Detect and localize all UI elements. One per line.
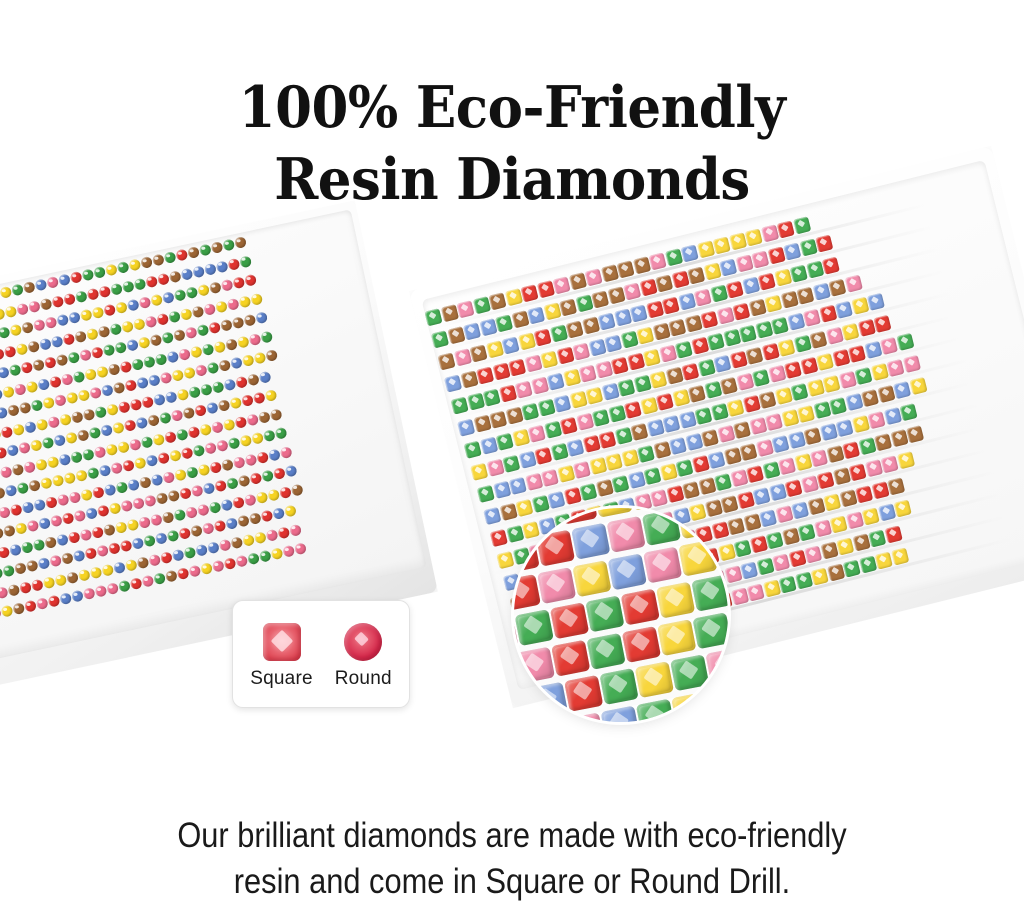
drill-bead <box>33 498 46 511</box>
drill-bead <box>183 546 196 559</box>
drill-bead <box>250 292 263 305</box>
drill-bead <box>63 472 76 485</box>
drill-bead <box>272 507 285 520</box>
drill-bead <box>143 355 156 368</box>
legend-label-round: Round <box>335 668 392 690</box>
drill-bead <box>121 499 134 512</box>
drill-bead <box>145 275 158 288</box>
drill-bead <box>269 408 282 421</box>
drill-bead <box>222 238 235 251</box>
drill-bead <box>114 521 127 534</box>
drill-bead <box>207 361 220 374</box>
drill-bead <box>126 339 139 352</box>
drill-bead <box>124 379 137 392</box>
drill-bead <box>235 375 248 388</box>
closeup-bead <box>571 523 610 560</box>
drill-bead <box>3 524 16 537</box>
drill-bead <box>84 547 97 560</box>
drill-bead <box>232 496 245 509</box>
drill-bead <box>242 354 255 367</box>
drill-bead <box>29 439 42 452</box>
drill-bead <box>74 330 87 343</box>
drill-bead <box>48 595 61 608</box>
drill-bead <box>204 262 217 275</box>
drill-bead <box>188 385 201 398</box>
drill-bead <box>57 493 70 506</box>
drill-bead <box>114 341 127 354</box>
drill-bead <box>135 416 148 429</box>
drill-bead <box>165 390 178 403</box>
closeup-bead <box>671 692 710 722</box>
drill-bead <box>55 533 68 546</box>
drill-bead <box>214 300 227 313</box>
drill-bead <box>106 403 119 416</box>
drill-bead <box>50 335 63 348</box>
drill-bead <box>105 443 118 456</box>
drill-bead <box>153 393 166 406</box>
drill-bead <box>250 472 263 485</box>
drill-bead <box>93 445 106 458</box>
drill-bead <box>209 460 222 473</box>
drill-bead <box>118 580 131 593</box>
drill-bead <box>175 428 188 441</box>
drill-bead <box>203 302 216 315</box>
drill-bead <box>152 433 165 446</box>
drill-bead <box>221 458 234 471</box>
drill-bead <box>147 414 160 427</box>
drill-bead <box>110 462 123 475</box>
drill-bead <box>213 519 226 532</box>
drill-bead <box>7 583 20 596</box>
drill-bead <box>191 484 204 497</box>
drill-bead <box>19 581 32 594</box>
closeup-bead <box>705 647 728 684</box>
drill-bead <box>254 531 267 544</box>
drill-bead <box>41 436 54 449</box>
drill-bead <box>65 431 78 444</box>
drill-bead <box>217 399 230 412</box>
drill-bead <box>54 394 67 407</box>
drill-bead <box>92 306 105 319</box>
drill-bead <box>46 455 59 468</box>
closeup-bead <box>586 633 625 670</box>
drill-bead <box>171 369 184 382</box>
drill-bead <box>95 585 108 598</box>
closeup-bead <box>707 685 728 722</box>
drill-bead <box>97 504 110 517</box>
drill-bead <box>85 507 98 520</box>
drill-bead <box>198 463 211 476</box>
drill-bead <box>97 325 110 338</box>
drill-bead <box>196 324 209 337</box>
drill-bead <box>70 271 83 284</box>
drill-type-legend: Square Round <box>232 600 410 708</box>
drill-bead <box>134 457 147 470</box>
drill-bead <box>1 425 14 438</box>
drill-bead <box>195 364 208 377</box>
drill-bead <box>87 287 100 300</box>
drill-bead <box>81 268 94 281</box>
closeup-bead <box>642 509 681 546</box>
drill-bead <box>140 435 153 448</box>
drill-bead <box>179 307 192 320</box>
drill-bead <box>166 529 179 542</box>
drill-bead <box>186 465 199 478</box>
drill-bead <box>256 451 269 464</box>
drill-bead <box>199 423 212 436</box>
drill-bead <box>127 299 140 312</box>
drill-bead <box>49 375 62 388</box>
drill-bead <box>255 311 268 324</box>
drill-bead <box>203 482 216 495</box>
drill-bead <box>78 568 91 581</box>
drill-bead <box>277 526 290 539</box>
drill-bead <box>142 575 155 588</box>
drill-bead <box>5 484 18 497</box>
drill-bead <box>154 353 167 366</box>
drill-bead <box>275 427 288 440</box>
drill-bead <box>136 376 149 389</box>
drill-bead <box>218 359 231 372</box>
drill-bead <box>34 278 47 291</box>
closeup-bead <box>529 682 568 719</box>
drill-bead <box>162 470 175 483</box>
drill-bead <box>166 350 179 363</box>
closeup-bead <box>678 540 717 577</box>
drill-bead <box>197 284 210 297</box>
drill-bead <box>199 243 212 256</box>
drill-bead <box>265 528 278 541</box>
drill-bead <box>139 475 152 488</box>
drill-bead <box>4 305 17 318</box>
drill-bead <box>85 327 98 340</box>
drill-bead <box>238 474 251 487</box>
drill-bead <box>164 251 177 264</box>
drill-bead <box>38 337 51 350</box>
drill-bead <box>216 260 229 273</box>
drill-bead <box>66 571 79 584</box>
drill-bead <box>128 438 141 451</box>
drill-bead <box>243 493 256 506</box>
drill-bead <box>72 370 85 383</box>
drill-bead <box>268 448 281 461</box>
drill-bead <box>261 469 274 482</box>
drill-bead <box>184 326 197 339</box>
drill-bead <box>63 292 76 305</box>
drill-bead <box>181 267 194 280</box>
drill-bead <box>149 334 162 347</box>
drill-bead <box>259 550 272 563</box>
drill-bead <box>25 559 38 572</box>
drill-bead <box>2 385 15 398</box>
drill-bead <box>0 465 12 478</box>
drill-bead <box>118 400 131 413</box>
drill-bead <box>151 294 164 307</box>
drill-bead <box>106 582 119 595</box>
drill-bead <box>32 538 45 551</box>
drill-bead <box>241 394 254 407</box>
drill-bead <box>156 312 169 325</box>
closeup-bead <box>585 595 624 632</box>
drill-bead <box>141 395 154 408</box>
drill-bead <box>222 418 235 431</box>
drill-bead <box>181 447 194 460</box>
drill-bead <box>246 413 259 426</box>
closeup-rows <box>514 508 728 722</box>
drill-bead <box>130 577 143 590</box>
drill-bead <box>1 605 14 618</box>
drill-bead <box>290 483 303 496</box>
drill-bead <box>19 401 32 414</box>
drill-bead <box>27 519 40 532</box>
drill-bead <box>78 389 91 402</box>
drill-bead <box>12 602 25 615</box>
closeup-bead <box>656 582 695 619</box>
drill-bead <box>68 311 81 324</box>
drill-bead <box>80 488 93 501</box>
drill-bead <box>186 286 199 299</box>
drill-bead <box>237 514 250 527</box>
drill-bead <box>38 517 51 530</box>
drill-bead <box>259 370 272 383</box>
drill-bead <box>208 321 221 334</box>
drill-bead <box>57 314 70 327</box>
closeup-bead <box>643 547 682 584</box>
drill-bead <box>88 426 101 439</box>
drill-bead <box>31 399 44 412</box>
drill-bead <box>115 480 128 493</box>
drill-bead <box>278 486 291 499</box>
closeup-bead <box>516 647 555 684</box>
drill-bead <box>136 556 149 569</box>
drill-bead <box>100 424 113 437</box>
drill-bead <box>168 489 181 502</box>
drill-bead <box>117 261 130 274</box>
drill-bead <box>177 388 190 401</box>
drill-bead <box>220 498 233 511</box>
drill-bead <box>71 410 84 423</box>
closeup-bead <box>657 619 696 656</box>
drill-bead <box>46 276 59 289</box>
drill-bead <box>219 538 232 551</box>
drill-bead <box>70 450 83 463</box>
closeup-bead <box>599 668 638 705</box>
legend-item-square[interactable]: Square <box>250 623 312 690</box>
closeup-bead <box>515 609 554 646</box>
drill-bead <box>79 349 92 362</box>
drill-bead <box>40 477 53 490</box>
drill-bead <box>105 263 118 276</box>
drill-bead <box>234 236 247 249</box>
drill-bead <box>285 464 298 477</box>
drill-bead <box>182 407 195 420</box>
drill-bead <box>93 266 106 279</box>
drill-bead <box>20 541 33 554</box>
drill-bead <box>50 514 63 527</box>
drill-bead <box>98 285 111 298</box>
drill-bead <box>91 346 104 359</box>
drill-bead <box>126 518 139 531</box>
drill-bead <box>42 576 55 589</box>
drill-bead <box>244 274 257 287</box>
drill-bead <box>96 365 109 378</box>
drill-bead <box>42 396 55 409</box>
drill-bead <box>131 537 144 550</box>
drill-bead <box>228 437 241 450</box>
drill-bead <box>79 528 92 541</box>
drill-bead <box>123 419 136 432</box>
legend-item-round[interactable]: Round <box>335 623 392 690</box>
closeup-bead <box>621 589 660 626</box>
drill-bead <box>40 297 53 310</box>
drill-bead <box>224 557 237 570</box>
drill-bead <box>221 279 234 292</box>
drill-bead <box>20 361 33 374</box>
drill-bead <box>45 316 58 329</box>
drill-bead <box>16 302 29 315</box>
drill-bead <box>91 526 104 539</box>
drill-bead <box>0 546 10 559</box>
drill-bead <box>205 402 218 415</box>
drill-bead <box>138 516 151 529</box>
drill-bead <box>161 331 174 344</box>
drill-bead <box>173 508 186 521</box>
drill-bead <box>31 578 44 591</box>
drill-bead <box>119 539 132 552</box>
drill-bead <box>254 351 267 364</box>
drill-bead <box>169 270 182 283</box>
drill-bead <box>122 459 135 472</box>
drill-bead <box>25 380 38 393</box>
drill-bead <box>157 272 170 285</box>
drill-bead <box>294 542 307 555</box>
drill-bead <box>192 265 205 278</box>
drill-bead <box>130 398 143 411</box>
drill-bead <box>36 597 49 610</box>
drill-bead <box>52 474 65 487</box>
drill-bead <box>242 533 255 546</box>
drill-bead <box>37 377 50 390</box>
drill-bead <box>83 408 96 421</box>
drill-bead <box>239 434 252 447</box>
drill-bead <box>117 440 130 453</box>
drill-bead <box>212 380 225 393</box>
drill-bead <box>267 488 280 501</box>
drill-bead <box>68 490 81 503</box>
drill-bead <box>187 425 200 438</box>
drill-bead <box>95 405 108 418</box>
drill-bead <box>187 246 200 259</box>
drill-bead <box>53 434 66 447</box>
drill-bead <box>51 295 64 308</box>
drill-bead <box>15 342 28 355</box>
drill-bead <box>24 420 37 433</box>
drill-bead <box>71 590 84 603</box>
drill-bead <box>84 368 97 381</box>
drill-bead <box>179 487 192 500</box>
closeup-bead <box>572 560 611 597</box>
drill-bead <box>211 241 224 254</box>
drill-bead <box>0 586 9 599</box>
drill-bead <box>158 412 171 425</box>
drill-bead <box>0 446 7 459</box>
drill-bead <box>98 464 111 477</box>
drill-bead <box>148 374 161 387</box>
drill-bead <box>6 444 19 457</box>
drill-bead <box>33 319 46 332</box>
drill-bead <box>89 386 102 399</box>
drill-bead <box>162 291 175 304</box>
closeup-bead <box>691 575 728 612</box>
drill-bead <box>160 371 173 384</box>
drill-bead <box>102 344 115 357</box>
drill-bead <box>92 485 105 498</box>
drill-bead <box>14 562 27 575</box>
drill-bead <box>132 497 145 510</box>
drill-bead <box>248 333 261 346</box>
drill-bead <box>194 404 207 417</box>
drill-bead <box>67 351 80 364</box>
drill-bead <box>111 421 124 434</box>
closeup-bead <box>536 530 575 567</box>
drill-bead <box>284 504 297 517</box>
drill-bead <box>174 289 187 302</box>
drill-bead <box>28 479 41 492</box>
drill-bead <box>109 322 122 335</box>
drill-bead <box>83 587 96 600</box>
drill-bead <box>196 503 209 516</box>
drill-bead <box>0 286 12 299</box>
drill-bead <box>12 423 25 436</box>
drill-bead <box>62 332 75 345</box>
drill-bead <box>148 553 161 566</box>
drill-bead <box>22 500 35 513</box>
drill-bead <box>140 256 153 269</box>
drill-bead <box>59 592 72 605</box>
drill-bead <box>108 542 121 555</box>
drill-bead <box>211 420 224 433</box>
drill-bead <box>230 536 243 549</box>
drill-bead <box>102 523 115 536</box>
drill-bead <box>229 397 242 410</box>
drill-bead <box>212 560 225 573</box>
drill-bead <box>201 343 214 356</box>
drill-bead <box>282 545 295 558</box>
drill-bead <box>101 384 114 397</box>
drill-bead <box>96 544 109 557</box>
drill-bead <box>0 366 10 379</box>
drill-bead <box>11 463 24 476</box>
drill-bead <box>226 297 239 310</box>
drill-bead <box>247 552 260 565</box>
drill-bead <box>80 309 93 322</box>
drill-bead <box>138 336 151 349</box>
drill-bead <box>59 413 72 426</box>
page-title-line-1: 100% Eco-Friendly <box>36 77 988 139</box>
drill-bead <box>174 468 187 481</box>
drill-bead <box>62 512 75 525</box>
drill-bead <box>143 534 156 547</box>
drill-bead <box>216 439 229 452</box>
drill-bead <box>161 511 174 524</box>
closeup-bead <box>551 640 590 677</box>
drill-bead <box>139 296 152 309</box>
closeup-bead <box>564 675 603 712</box>
drill-bead <box>58 453 71 466</box>
drill-bead <box>200 562 213 575</box>
drill-bead <box>122 280 135 293</box>
drill-bead <box>37 557 50 570</box>
